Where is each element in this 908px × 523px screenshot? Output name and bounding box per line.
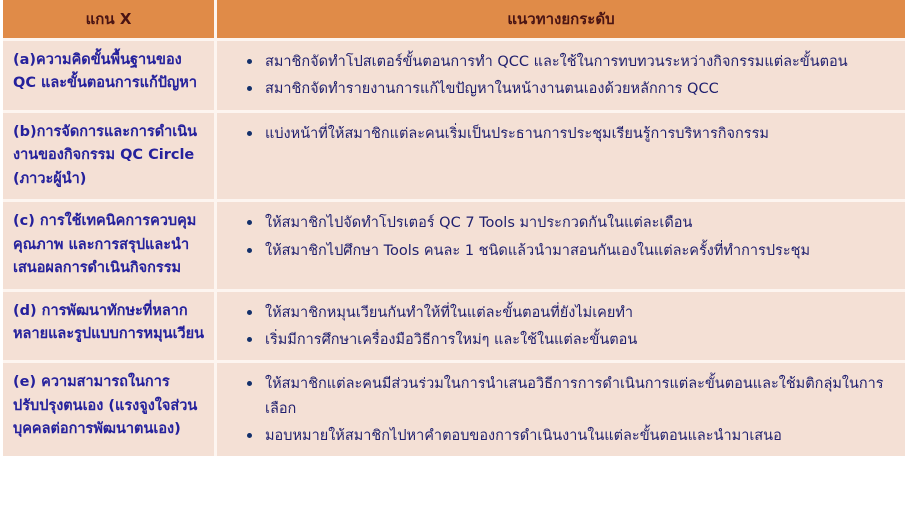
guidelines-cell-a: สมาชิกจัดทำโปสเตอร์ขั้นตอนการทำ QCC และใ…: [217, 41, 905, 113]
table-body: (a)ความคิดขั้นพื้นฐานของ QC และขั้นตอนกา…: [3, 41, 905, 456]
guideline-list-c: ให้สมาชิกไปจัดทำโปรเตอร์ QC 7 Tools มาปร…: [221, 211, 897, 263]
guideline-text: ให้สมาชิกไปจัดทำโปรเตอร์ QC 7 Tools มาปร…: [265, 215, 692, 231]
bullet-dot-icon: [247, 337, 252, 342]
guideline-text: สมาชิกจัดทำรายงานการแก้ไขปัญหาในหน้างานต…: [265, 81, 719, 97]
qc-guidelines-table-container: แกน X แนวทางยกระดับ (a)ความคิดขั้นพื้นฐา…: [0, 0, 908, 523]
guidelines-cell-b: แบ่งหน้าที่ให้สมาชิกแต่ละคนเริ่มเป็นประธ…: [217, 113, 905, 202]
guideline-text: มอบหมายให้สมาชิกไปหาคำตอบของการดำเนินงาน…: [265, 428, 782, 444]
guideline-text: ให้สมาชิกแต่ละคนมีส่วนร่วมในการนำเสนอวิธ…: [265, 376, 884, 416]
guidelines-cell-e: ให้สมาชิกแต่ละคนมีส่วนร่วมในการนำเสนอวิธ…: [217, 363, 905, 456]
list-item: สมาชิกจัดทำโปสเตอร์ขั้นตอนการทำ QCC และใ…: [221, 50, 897, 74]
guideline-text: สมาชิกจัดทำโปสเตอร์ขั้นตอนการทำ QCC และใ…: [265, 54, 848, 70]
table-row: (d) การพัฒนาทักษะที่หลากหลายและรูปแบบการ…: [3, 292, 905, 364]
axis-label-c: (c) การใช้เทคนิคการควบคุมคุณภาพ และการสร…: [3, 202, 217, 291]
header-improvement-guidelines: แนวทางยกระดับ: [217, 0, 905, 41]
list-item: ให้สมาชิกไปศึกษา Tools คนละ 1 ชนิดแล้วนำ…: [221, 239, 897, 263]
axis-label-a: (a)ความคิดขั้นพื้นฐานของ QC และขั้นตอนกา…: [3, 41, 217, 113]
axis-label-d: (d) การพัฒนาทักษะที่หลากหลายและรูปแบบการ…: [3, 292, 217, 364]
axis-label-e: (e) ความสามารถในการปรับปรุงตนเอง (แรงจูง…: [3, 363, 217, 456]
guideline-list-d: ให้สมาชิกหมุนเวียนกันทำให้ที่ในแต่ละขั้น…: [221, 301, 897, 353]
list-item: ให้สมาชิกหมุนเวียนกันทำให้ที่ในแต่ละขั้น…: [221, 301, 897, 325]
guideline-list-b: แบ่งหน้าที่ให้สมาชิกแต่ละคนเริ่มเป็นประธ…: [221, 122, 897, 146]
table-header: แกน X แนวทางยกระดับ: [3, 0, 905, 41]
guideline-text: ให้สมาชิกหมุนเวียนกันทำให้ที่ในแต่ละขั้น…: [265, 305, 633, 321]
guideline-text: เริ่มมีการศึกษาเครื่องมือวิธีการใหม่ๆ แล…: [265, 332, 637, 348]
table-row: (e) ความสามารถในการปรับปรุงตนเอง (แรงจูง…: [3, 363, 905, 456]
list-item: สมาชิกจัดทำรายงานการแก้ไขปัญหาในหน้างานต…: [221, 77, 897, 101]
bullet-dot-icon: [247, 248, 252, 253]
bullet-dot-icon: [247, 381, 252, 386]
list-item: ให้สมาชิกไปจัดทำโปรเตอร์ QC 7 Tools มาปร…: [221, 211, 897, 235]
guideline-list-a: สมาชิกจัดทำโปสเตอร์ขั้นตอนการทำ QCC และใ…: [221, 50, 897, 102]
bullet-dot-icon: [247, 310, 252, 315]
list-item: ให้สมาชิกแต่ละคนมีส่วนร่วมในการนำเสนอวิธ…: [221, 372, 897, 421]
guideline-list-e: ให้สมาชิกแต่ละคนมีส่วนร่วมในการนำเสนอวิธ…: [221, 372, 897, 448]
list-item: แบ่งหน้าที่ให้สมาชิกแต่ละคนเริ่มเป็นประธ…: [221, 122, 897, 146]
bullet-dot-icon: [247, 220, 252, 225]
bullet-dot-icon: [247, 131, 252, 136]
bullet-dot-icon: [247, 433, 252, 438]
table-row: (c) การใช้เทคนิคการควบคุมคุณภาพ และการสร…: [3, 202, 905, 291]
guideline-text: แบ่งหน้าที่ให้สมาชิกแต่ละคนเริ่มเป็นประธ…: [265, 126, 769, 142]
table-row: (a)ความคิดขั้นพื้นฐานของ QC และขั้นตอนกา…: [3, 41, 905, 113]
table-row: (b)การจัดการและการดำเนินงานของกิจกรรม QC…: [3, 113, 905, 202]
guidelines-cell-d: ให้สมาชิกหมุนเวียนกันทำให้ที่ในแต่ละขั้น…: [217, 292, 905, 364]
bullet-dot-icon: [247, 86, 252, 91]
list-item: เริ่มมีการศึกษาเครื่องมือวิธีการใหม่ๆ แล…: [221, 328, 897, 352]
list-item: มอบหมายให้สมาชิกไปหาคำตอบของการดำเนินงาน…: [221, 424, 897, 448]
bullet-dot-icon: [247, 59, 252, 64]
table-header-row: แกน X แนวทางยกระดับ: [3, 0, 905, 41]
guideline-text: ให้สมาชิกไปศึกษา Tools คนละ 1 ชนิดแล้วนำ…: [265, 243, 810, 259]
qc-guidelines-table: แกน X แนวทางยกระดับ (a)ความคิดขั้นพื้นฐา…: [3, 0, 905, 456]
guidelines-cell-c: ให้สมาชิกไปจัดทำโปรเตอร์ QC 7 Tools มาปร…: [217, 202, 905, 291]
header-axis-x: แกน X: [3, 0, 217, 41]
axis-label-b: (b)การจัดการและการดำเนินงานของกิจกรรม QC…: [3, 113, 217, 202]
